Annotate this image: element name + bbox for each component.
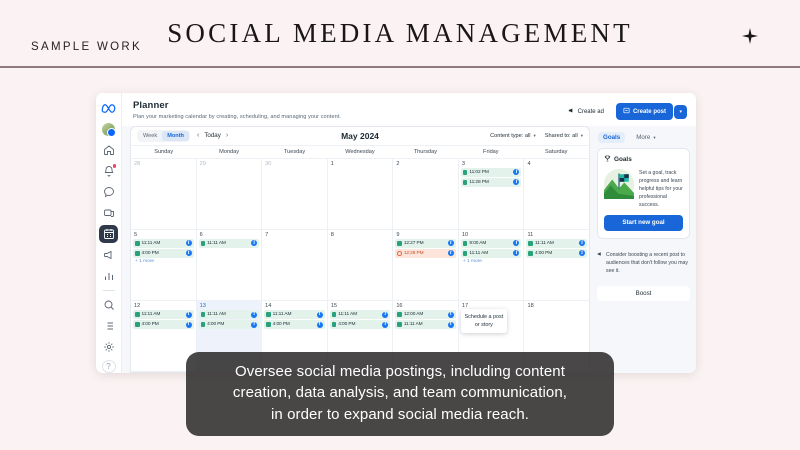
calendar-day-cell[interactable]: 109:00 AMf11:11 AMf+ 1 more [459, 230, 525, 300]
meta-logo-icon[interactable] [99, 99, 118, 117]
day-number: 5 [133, 232, 194, 238]
scheduled-status-icon [201, 241, 206, 246]
calendar-event-chip[interactable]: 11:11 AMf [199, 310, 260, 319]
caption-line-1: Oversee social media postings, including… [200, 361, 600, 382]
facebook-icon: f [513, 250, 519, 256]
scheduled-status-icon [397, 312, 402, 317]
scheduled-status-icon [463, 241, 468, 246]
chevron-down-icon: ▾ [534, 133, 536, 139]
scheduled-status-icon [528, 241, 533, 246]
scheduled-status-icon [266, 322, 271, 327]
page-header: SAMPLE WORK SOCIAL MEDIA MANAGEMENT [0, 0, 800, 68]
scheduled-status-icon [463, 180, 468, 185]
calendar-day-cell[interactable]: 1 [328, 159, 394, 229]
day-number: 7 [264, 232, 325, 238]
calendar-filters: Content type: all ▾ Shared to: all ▾ [490, 133, 583, 139]
goals-tabs: Goals More ▾ [597, 132, 690, 143]
event-time: 12:00 AM [404, 312, 423, 317]
event-time: 12:28 PM [404, 251, 424, 256]
goals-panel: Goals More ▾ Goals [590, 126, 696, 374]
facebook-icon: f [382, 322, 388, 328]
facebook-icon: f [513, 240, 519, 246]
goals-card-body: Set a goal, track progress and learn hel… [604, 169, 683, 209]
scheduled-status-icon [266, 312, 271, 317]
calendar-area: Week Month ‹ Today › May 2024 Content ty… [122, 126, 696, 374]
header-actions: Create ad Create post ▾ [562, 103, 687, 120]
event-time: 9:00 AM [469, 241, 486, 246]
calendar-event-chip[interactable]: 4:00 PMf [133, 249, 194, 258]
day-number: 13 [199, 303, 260, 309]
day-number: 18 [526, 303, 587, 309]
facebook-icon: f [448, 312, 454, 318]
facebook-icon: f [448, 322, 454, 328]
facebook-icon: f [579, 250, 585, 256]
sparkle-icon [742, 28, 758, 44]
facebook-icon: f [579, 240, 585, 246]
app-content: Planner Plan your marketing calendar by … [122, 93, 696, 373]
day-of-week-label: Monday [196, 146, 261, 158]
chevron-down-icon: ▾ [653, 135, 655, 141]
facebook-icon: f [513, 169, 519, 175]
calendar-event-chip[interactable]: 12:28 PMf [395, 249, 456, 258]
list-icon[interactable] [99, 317, 118, 335]
calendar-event-chip[interactable]: 4:00 PMf [526, 249, 587, 258]
boost-note-text: Consider boosting a recent post to audie… [606, 251, 690, 275]
calendar-day-cell[interactable]: 1111:11 AMf4:00 PMf [524, 230, 589, 300]
calendar-event-chip[interactable]: 4:00 PMf [199, 320, 260, 329]
calendar-day-cell[interactable]: 611:11 AMf [197, 230, 263, 300]
day-number: 1 [330, 161, 391, 167]
megaphone-icon [597, 251, 603, 275]
calendar-day-cell[interactable]: 2 [393, 159, 459, 229]
scheduled-status-icon [332, 322, 337, 327]
app-window: ? Planner Plan your marketing calendar b… [96, 93, 696, 373]
day-number: 12 [133, 303, 194, 309]
facebook-icon: f [251, 322, 257, 328]
event-time: 11:11 AM [404, 322, 423, 327]
view-toggle: Week Month [137, 130, 190, 142]
facebook-icon: f [251, 312, 257, 318]
start-new-goal-button[interactable]: Start new goal [604, 215, 683, 231]
event-time: 11:11 AM [469, 251, 488, 256]
create-post-dropdown[interactable]: ▾ [674, 105, 687, 119]
calendar-event-chip[interactable]: 11:11 AMf [199, 239, 260, 248]
more-events-link[interactable]: + 1 more [461, 259, 522, 264]
help-icon[interactable]: ? [102, 360, 116, 373]
day-number: 15 [330, 303, 391, 309]
tab-goals[interactable]: Goals [598, 132, 625, 143]
scheduled-status-icon [397, 241, 402, 246]
rail-divider [103, 290, 115, 291]
messages-icon[interactable] [99, 183, 118, 201]
day-number: 29 [199, 161, 260, 167]
content-type-filter[interactable]: Content type: all ▾ [490, 133, 536, 139]
insights-chart-icon[interactable] [99, 267, 118, 285]
pages-icon[interactable] [99, 204, 118, 222]
calendar-event-chip[interactable]: 4:00 PMf [264, 320, 325, 329]
calendar-event-chip[interactable]: 11:11 AMf [526, 239, 587, 248]
account-avatar[interactable] [99, 120, 118, 138]
calendar-toolbar: Week Month ‹ Today › May 2024 Content ty… [131, 127, 589, 146]
calendar-event-chip[interactable]: 11:11 AMf [395, 320, 456, 329]
day-number: 17 [461, 303, 522, 309]
facebook-icon: f [513, 179, 519, 185]
facebook-icon: f [186, 240, 192, 246]
goals-card-text: Set a goal, track progress and learn hel… [639, 169, 683, 209]
day-of-week-label: Thursday [393, 146, 458, 158]
calendar-nav: ‹ Today › [197, 132, 228, 139]
event-time: 4:00 PM [338, 322, 355, 327]
boost-note: Consider boosting a recent post to audie… [597, 251, 690, 275]
boost-button[interactable]: Boost [597, 286, 690, 301]
scheduled-status-icon [528, 251, 533, 256]
calendar-event-chip[interactable]: 11:11 AMf [330, 310, 391, 319]
facebook-icon: f [448, 250, 454, 256]
day-number: 3 [461, 161, 522, 167]
facebook-icon: f [382, 312, 388, 318]
view-month-button[interactable]: Month [162, 131, 189, 141]
facebook-icon: f [186, 250, 192, 256]
goals-card: Goals [597, 148, 690, 239]
scheduled-status-icon [135, 251, 140, 256]
event-time: 4:00 PM [535, 251, 552, 256]
calendar-day-cell[interactable]: 30 [262, 159, 328, 229]
day-of-week-label: Tuesday [262, 146, 327, 158]
day-number: 2 [395, 161, 456, 167]
event-time: 4:00 PM [142, 251, 159, 256]
day-number: 30 [264, 161, 325, 167]
day-number: 4 [526, 161, 587, 167]
tab-more[interactable]: More ▾ [634, 134, 655, 141]
day-number: 8 [330, 232, 391, 238]
calendar-event-chip[interactable]: 11:11 AMf [133, 310, 194, 319]
calendar-weeks: 28293012311:02 PMf11:28 PMf4511:11 AMf4:… [131, 159, 589, 373]
notification-badge [113, 164, 116, 167]
event-time: 11:28 PM [469, 180, 488, 185]
facebook-icon: f [186, 322, 192, 328]
more-events-link[interactable]: + 1 more [133, 259, 194, 264]
facebook-icon: f [317, 322, 323, 328]
day-of-week-label: Saturday [524, 146, 589, 158]
home-icon[interactable] [99, 141, 118, 159]
day-number: 10 [461, 232, 522, 238]
scheduled-status-icon [201, 322, 206, 327]
prev-month-button[interactable]: ‹ [197, 132, 199, 139]
compose-icon [623, 107, 630, 116]
facebook-icon: f [251, 240, 257, 246]
calendar-event-chip[interactable]: 4:00 PMf [133, 320, 194, 329]
day-number: 9 [395, 232, 456, 238]
calendar-day-cell[interactable]: 7 [262, 230, 328, 300]
calendar-day-cell[interactable]: 511:11 AMf4:00 PMf+ 1 more [131, 230, 197, 300]
day-number: 28 [133, 161, 194, 167]
calendar-event-chip[interactable]: 9:00 AMf [461, 239, 522, 248]
event-time: 11:11 AM [535, 241, 554, 246]
day-of-week-label: Sunday [131, 146, 196, 158]
facebook-icon: f [448, 240, 454, 246]
calendar-day-cell[interactable]: 912:27 PMf12:28 PMf [393, 230, 459, 300]
next-month-button[interactable]: › [226, 132, 228, 139]
calendar-event-chip[interactable]: 12:00 AMf [395, 310, 456, 319]
goals-card-title: Goals [614, 156, 632, 163]
calendar-event-chip[interactable]: 11:11 AMf [264, 310, 325, 319]
event-time: 11:11 AM [142, 241, 161, 246]
event-time: 11:02 PM [469, 170, 488, 175]
create-post-label: Create post [633, 109, 666, 115]
calendar-week-row: 511:11 AMf4:00 PMf+ 1 more611:11 AMf7891… [131, 230, 589, 301]
view-week-button[interactable]: Week [138, 131, 162, 141]
day-number: 16 [395, 303, 456, 309]
facebook-icon: f [186, 312, 192, 318]
scheduled-status-icon [463, 170, 468, 175]
caption-line-2: creation, data analysis, and team commun… [200, 382, 600, 403]
notifications-bell-icon[interactable] [99, 162, 118, 180]
event-time: 11:11 AM [142, 312, 161, 317]
page-title: SOCIAL MEDIA MANAGEMENT [0, 18, 800, 49]
create-post-group: Create post ▾ [616, 103, 687, 120]
event-time: 11:11 AM [338, 312, 357, 317]
calendar-event-chip[interactable]: 12:27 PMf [395, 239, 456, 248]
day-of-week-label: Friday [458, 146, 523, 158]
header-divider [0, 66, 800, 68]
calendar-day-cell[interactable]: 28 [131, 159, 197, 229]
day-number: 11 [526, 232, 587, 238]
tab-more-label: More [636, 134, 650, 141]
event-time: 11:11 AM [207, 312, 226, 317]
gear-icon[interactable] [99, 338, 118, 356]
goal-illustration-icon [604, 169, 634, 199]
icon-rail: ? [96, 93, 122, 373]
search-icon[interactable] [99, 296, 118, 314]
create-post-button[interactable]: Create post [616, 103, 673, 120]
today-button[interactable]: Today [204, 132, 221, 139]
shared-to-filter[interactable]: Shared to: all ▾ [545, 133, 583, 139]
calendar-event-chip[interactable]: 11:11 AMf [461, 249, 522, 258]
scheduled-status-icon [201, 312, 206, 317]
calendar-day-cell[interactable]: 8 [328, 230, 394, 300]
scheduled-status-icon [397, 322, 402, 327]
calendar-event-chip[interactable]: 4:00 PMf [330, 320, 391, 329]
event-time: 11:11 AM [273, 312, 292, 317]
pending-status-icon [397, 251, 402, 256]
scheduled-status-icon [332, 312, 337, 317]
calendar-week-row: 28293012311:02 PMf11:28 PMf4 [131, 159, 589, 230]
chevron-down-icon: ▾ [581, 133, 583, 139]
calendar-day-cell[interactable]: 4 [524, 159, 589, 229]
schedule-tooltip: Schedule a post or story [461, 309, 507, 333]
ads-megaphone-icon[interactable] [99, 246, 118, 264]
goals-card-header: Goals [604, 155, 683, 164]
scheduled-status-icon [135, 312, 140, 317]
calendar-event-chip[interactable]: 11:02 PMf [461, 168, 522, 177]
sidebar-item-planner[interactable] [99, 225, 118, 243]
day-number: 14 [264, 303, 325, 309]
day-number: 6 [199, 232, 260, 238]
scheduled-status-icon [135, 322, 140, 327]
event-time: 4:00 PM [273, 322, 290, 327]
megaphone-icon [568, 107, 575, 116]
shared-to-filter-label: Shared to: all [545, 133, 578, 139]
day-of-week-label: Wednesday [327, 146, 392, 158]
event-time: 11:11 AM [207, 241, 226, 246]
calendar-day-cell[interactable]: 311:02 PMf11:28 PMf [459, 159, 525, 229]
event-time: 4:00 PM [207, 322, 224, 327]
caption-overlay: Oversee social media postings, including… [186, 352, 614, 436]
event-time: 4:00 PM [142, 322, 159, 327]
day-of-week-row: SundayMondayTuesdayWednesdayThursdayFrid… [131, 146, 589, 159]
content-type-filter-label: Content type: all [490, 133, 530, 139]
facebook-icon: f [317, 312, 323, 318]
scheduled-status-icon [463, 251, 468, 256]
calendar-event-chip[interactable]: 11:28 PMf [461, 178, 522, 187]
scheduled-status-icon [135, 241, 140, 246]
caption-line-3: in order to expand social media reach. [200, 404, 600, 425]
trophy-icon [604, 155, 611, 164]
create-ad-button[interactable]: Create ad [562, 104, 610, 119]
create-ad-label: Create ad [578, 109, 604, 115]
event-time: 12:27 PM [404, 241, 424, 246]
calendar-event-chip[interactable]: 11:11 AMf [133, 239, 194, 248]
calendar: Week Month ‹ Today › May 2024 Content ty… [130, 126, 590, 374]
calendar-day-cell[interactable]: 29 [197, 159, 263, 229]
